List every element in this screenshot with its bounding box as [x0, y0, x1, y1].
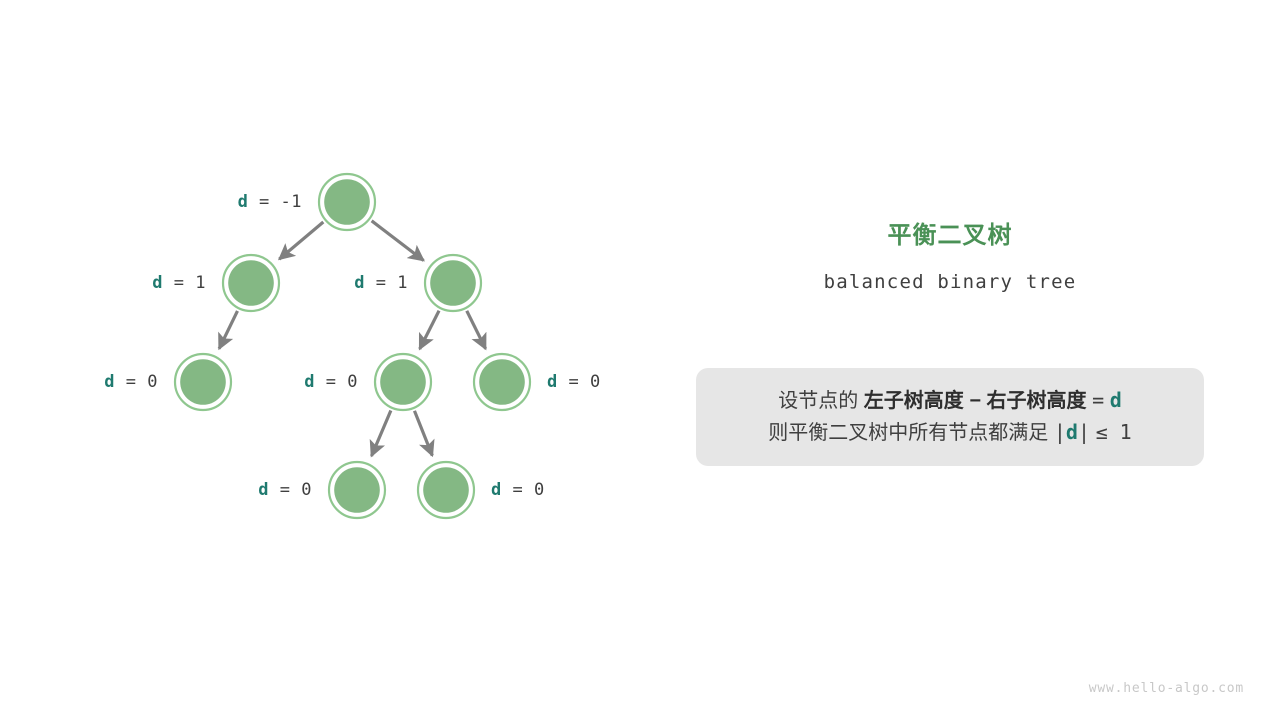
tree-node[interactable]: [319, 174, 375, 230]
node-balance-variable: d: [152, 273, 163, 293]
node-balance-value: = 0: [558, 372, 601, 392]
tree-node[interactable]: [474, 354, 530, 410]
tree-node[interactable]: [425, 255, 481, 311]
tree-node-fill: [334, 467, 380, 513]
panel-title: 平衡二叉树: [696, 222, 1204, 251]
node-balance-value: = 0: [315, 372, 358, 392]
node-balance-value: = 0: [502, 480, 545, 500]
node-balance-value: = 1: [365, 273, 408, 293]
panel-subtitle: balanced binary tree: [696, 271, 1204, 293]
definition-line-2-relation: ≤ 1: [1096, 420, 1132, 444]
node-balance-variable: d: [304, 372, 315, 392]
node-balance-variable: d: [354, 273, 365, 293]
node-balance-value: = 0: [115, 372, 158, 392]
definition-line-1-equals: =: [1092, 388, 1104, 412]
tree-node-fill: [479, 359, 525, 405]
node-balance-label: d = 0: [547, 372, 601, 392]
tree-edge: [467, 311, 486, 349]
node-balance-variable: d: [258, 480, 269, 500]
definition-box: 设节点的 左子树高度 − 右子树高度 = d 则平衡二叉树中所有节点都满足 |d…: [696, 368, 1204, 466]
tree-node-fill: [380, 359, 426, 405]
tree-node[interactable]: [329, 462, 385, 518]
tree-edge: [371, 411, 390, 456]
tree-edge: [372, 221, 424, 261]
watermark: www.hello-algo.com: [1089, 681, 1244, 696]
node-balance-label: d = 0: [104, 372, 158, 392]
definition-line-2-bar-close: |: [1078, 420, 1090, 444]
node-balance-variable: d: [238, 192, 249, 212]
definition-line-2-lead: 则平衡二叉树中所有节点都满足: [768, 422, 1048, 444]
tree-node-fill: [430, 260, 476, 306]
tree-node[interactable]: [375, 354, 431, 410]
tree-edge: [219, 311, 237, 349]
tree-node[interactable]: [223, 255, 279, 311]
tree-node-fill: [324, 179, 370, 225]
node-balance-label: d = 0: [258, 480, 312, 500]
definition-line-2: 则平衡二叉树中所有节点都满足 |d| ≤ 1: [768, 417, 1131, 449]
tree-node[interactable]: [418, 462, 474, 518]
definition-line-1-lead: 设节点的: [778, 390, 858, 412]
tree-node-fill: [423, 467, 469, 513]
definition-line-2-variable: d: [1066, 420, 1078, 444]
node-balance-variable: d: [491, 480, 502, 500]
node-balance-label: d = 1: [152, 273, 206, 293]
definition-line-1: 设节点的 左子树高度 − 右子树高度 = d: [778, 385, 1122, 417]
node-balance-variable: d: [547, 372, 558, 392]
tree-node-fill: [228, 260, 274, 306]
tree-node[interactable]: [175, 354, 231, 410]
tree-edge: [279, 222, 323, 259]
definition-line-2-bar-open: |: [1054, 420, 1066, 444]
node-balance-label: d = -1: [238, 192, 302, 212]
definition-line-1-variable: d: [1110, 388, 1122, 412]
definition-line-1-strong: 左子树高度 − 右子树高度: [864, 390, 1087, 412]
node-balance-label: d = 0: [304, 372, 358, 392]
node-balance-value: = -1: [248, 192, 302, 212]
tree-edge: [414, 411, 432, 456]
node-balance-value: = 1: [163, 273, 206, 293]
tree-graphic: [0, 0, 1280, 720]
concept-panel: 平衡二叉树 balanced binary tree: [696, 222, 1204, 293]
tree-node-fill: [180, 359, 226, 405]
node-balance-value: = 0: [269, 480, 312, 500]
diagram-canvas: d = -1d = 1d = 1d = 0d = 0d = 0d = 0d = …: [0, 0, 1280, 720]
node-balance-label: d = 1: [354, 273, 408, 293]
tree-edge: [420, 311, 439, 349]
node-balance-variable: d: [104, 372, 115, 392]
node-balance-label: d = 0: [491, 480, 545, 500]
tree-nodes: [175, 174, 530, 518]
